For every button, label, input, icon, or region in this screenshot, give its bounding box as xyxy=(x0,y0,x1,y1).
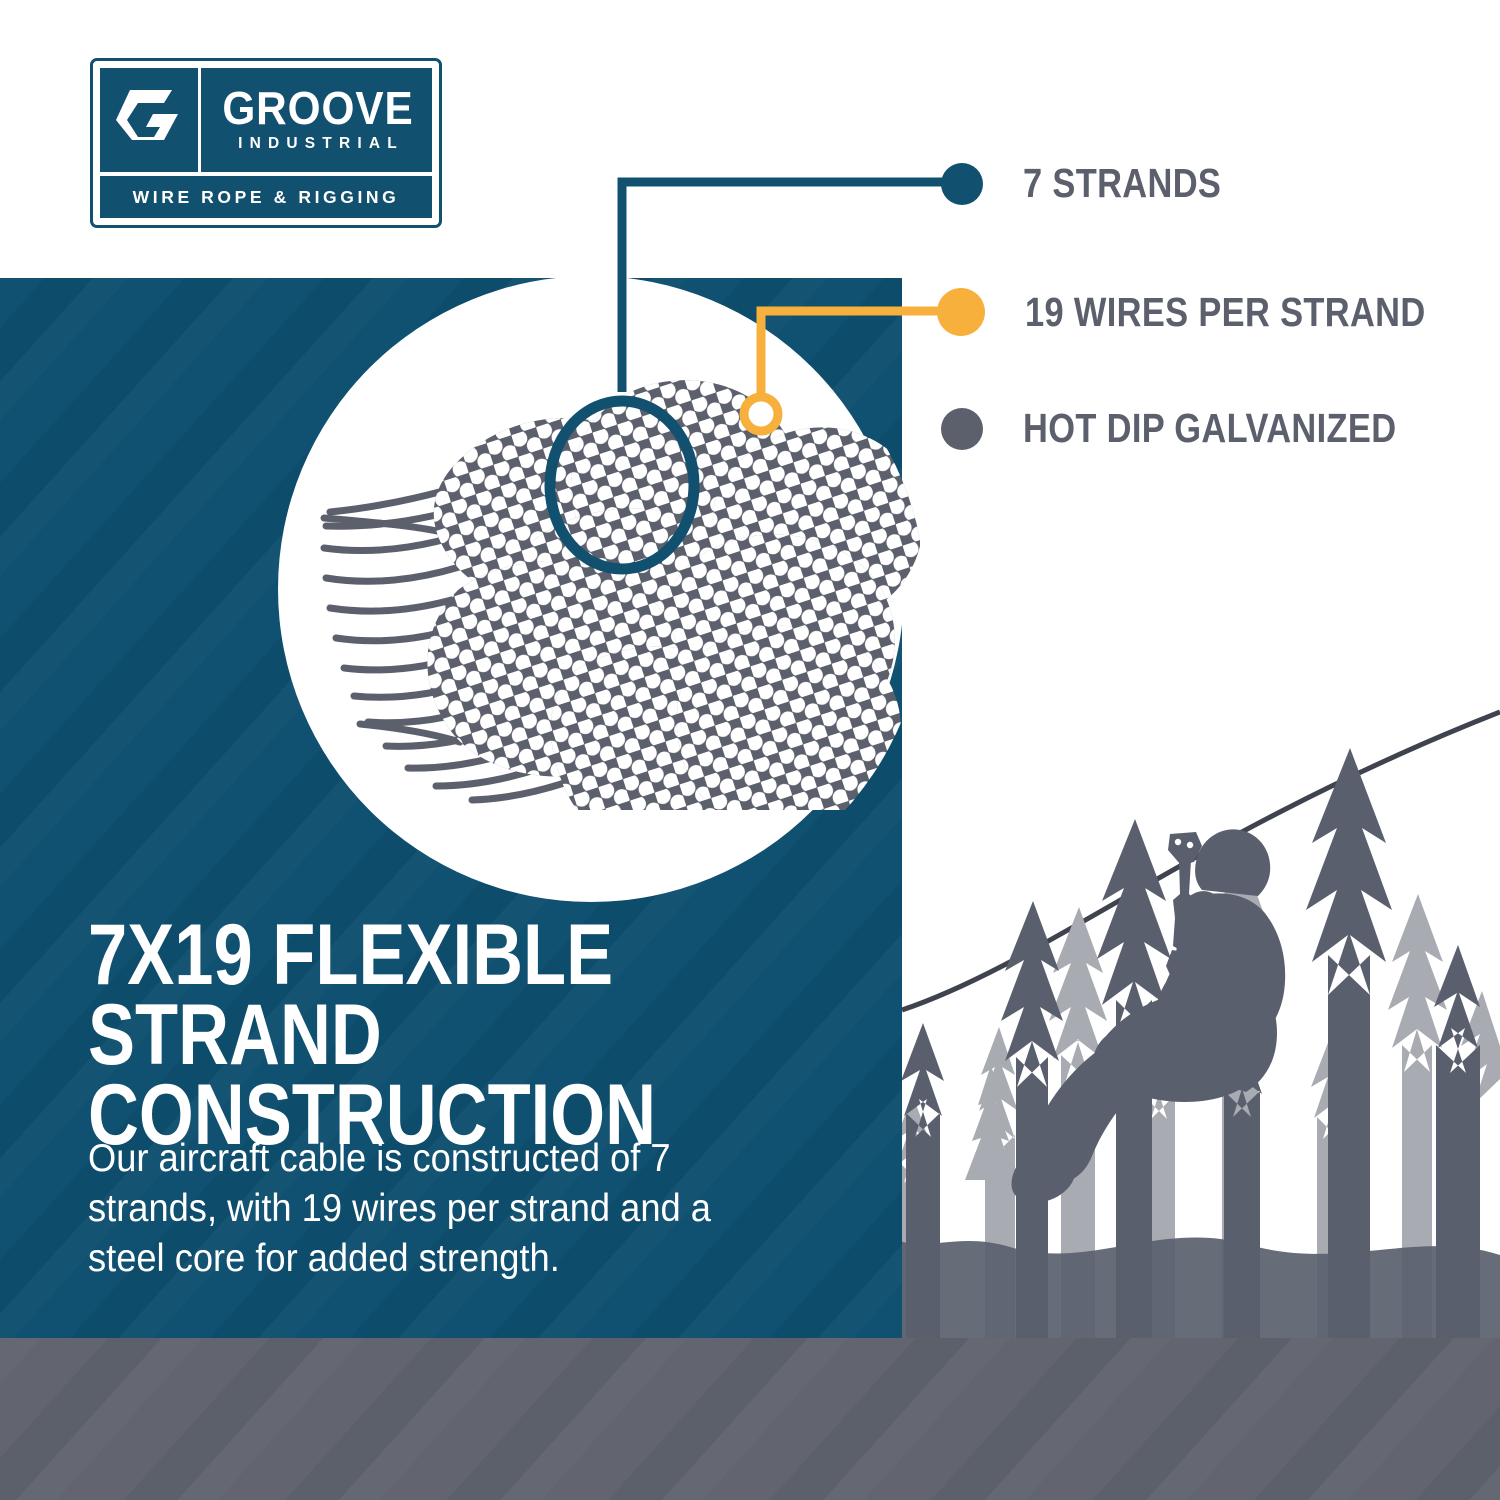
brand-subname: INDUSTRIAL xyxy=(231,135,404,153)
leader-line-wires xyxy=(761,311,961,414)
callout-dot-galvanized xyxy=(941,408,983,450)
leader-line-strands xyxy=(622,182,962,392)
callout-label-strands: 7 STRANDS xyxy=(1023,160,1221,207)
brand-logo[interactable]: GROOVE INDUSTRIAL WIRE ROPE & RIGGING xyxy=(90,58,442,228)
body-copy: Our aircraft cable is constructed of 7 s… xyxy=(88,1134,758,1284)
callout-hot-dip-galvanized[interactable]: HOT DIP GALVANIZED xyxy=(941,405,1468,452)
headline-line-1: 7X19 FLEXIBLE xyxy=(88,916,736,996)
callout-19-wires-per-strand[interactable]: 19 WIRES PER STRAND xyxy=(937,288,1500,336)
callout-label-wires: 19 WIRES PER STRAND xyxy=(1025,289,1426,336)
headline-line-2: STRAND CONSTRUCTION xyxy=(88,996,736,1156)
infographic-canvas: 7 STRANDS 19 WIRES PER STRAND HOT DIP GA… xyxy=(0,0,1500,1500)
brand-name: GROOVE xyxy=(222,87,413,131)
groove-g-icon xyxy=(100,68,198,172)
callout-7-strands[interactable]: 7 STRANDS xyxy=(941,160,1259,207)
callout-label-galvanized: HOT DIP GALVANIZED xyxy=(1023,405,1396,452)
callout-dot-strands xyxy=(941,163,983,205)
brand-tagline: WIRE ROPE & RIGGING xyxy=(133,187,400,208)
callout-dot-wires xyxy=(937,288,985,336)
headline: 7X19 FLEXIBLE STRAND CONSTRUCTION xyxy=(88,916,736,1156)
single-wire-ring xyxy=(744,397,778,431)
